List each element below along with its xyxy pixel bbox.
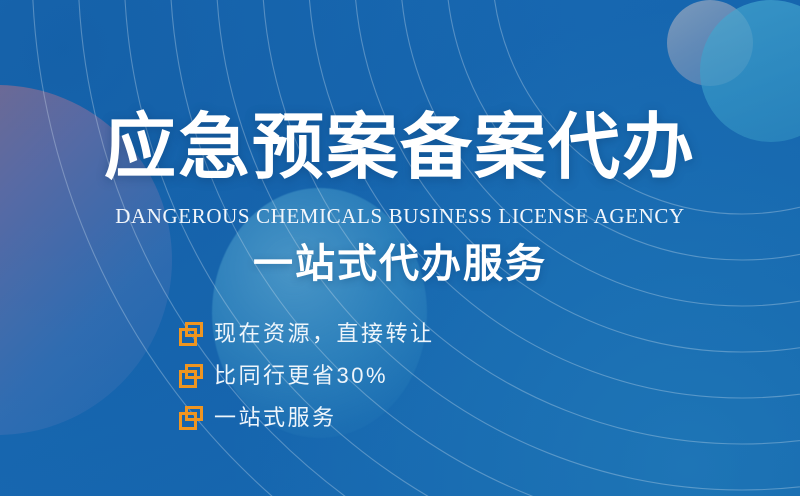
list-item: 比同行更省30% (178, 358, 435, 394)
list-item-label: 比同行更省30% (214, 365, 388, 387)
overlapping-squares-icon (178, 321, 204, 347)
feature-list: 现在资源，直接转让 比同行更省30% 一站式 (178, 316, 435, 442)
page-title: 应急预案备案代办 (0, 112, 800, 184)
overlapping-squares-icon (178, 363, 204, 389)
english-subtitle: DANGEROUS CHEMICALS BUSINESS LICENSE AGE… (0, 206, 800, 227)
list-item: 一站式服务 (178, 400, 435, 436)
overlapping-squares-icon (178, 405, 204, 431)
list-item: 现在资源，直接转让 (178, 316, 435, 352)
chinese-subtitle: 一站式代办服务 (0, 244, 800, 284)
promotional-banner: 应急预案备案代办 DANGEROUS CHEMICALS BUSINESS LI… (0, 0, 800, 496)
list-item-label: 一站式服务 (214, 407, 337, 429)
banner-content: 应急预案备案代办 DANGEROUS CHEMICALS BUSINESS LI… (0, 0, 800, 496)
list-item-label: 现在资源，直接转让 (214, 323, 435, 345)
